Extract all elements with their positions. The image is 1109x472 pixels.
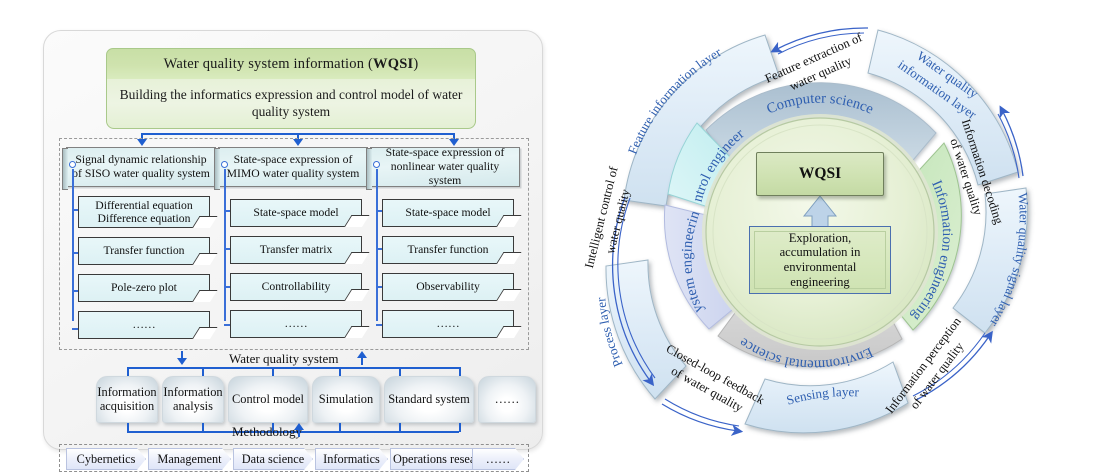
center-wqsi-box[interactable]: WQSI (756, 152, 884, 196)
circular-framework-diagram: Computer science Information engineering… (0, 0, 1109, 465)
center-exploration-text: Exploration, accumulation in environment… (754, 231, 886, 289)
center-exploration-box[interactable]: Exploration, accumulation in environment… (749, 226, 891, 294)
inner-ring-label-system-engineering: System engineering (0, 0, 707, 315)
